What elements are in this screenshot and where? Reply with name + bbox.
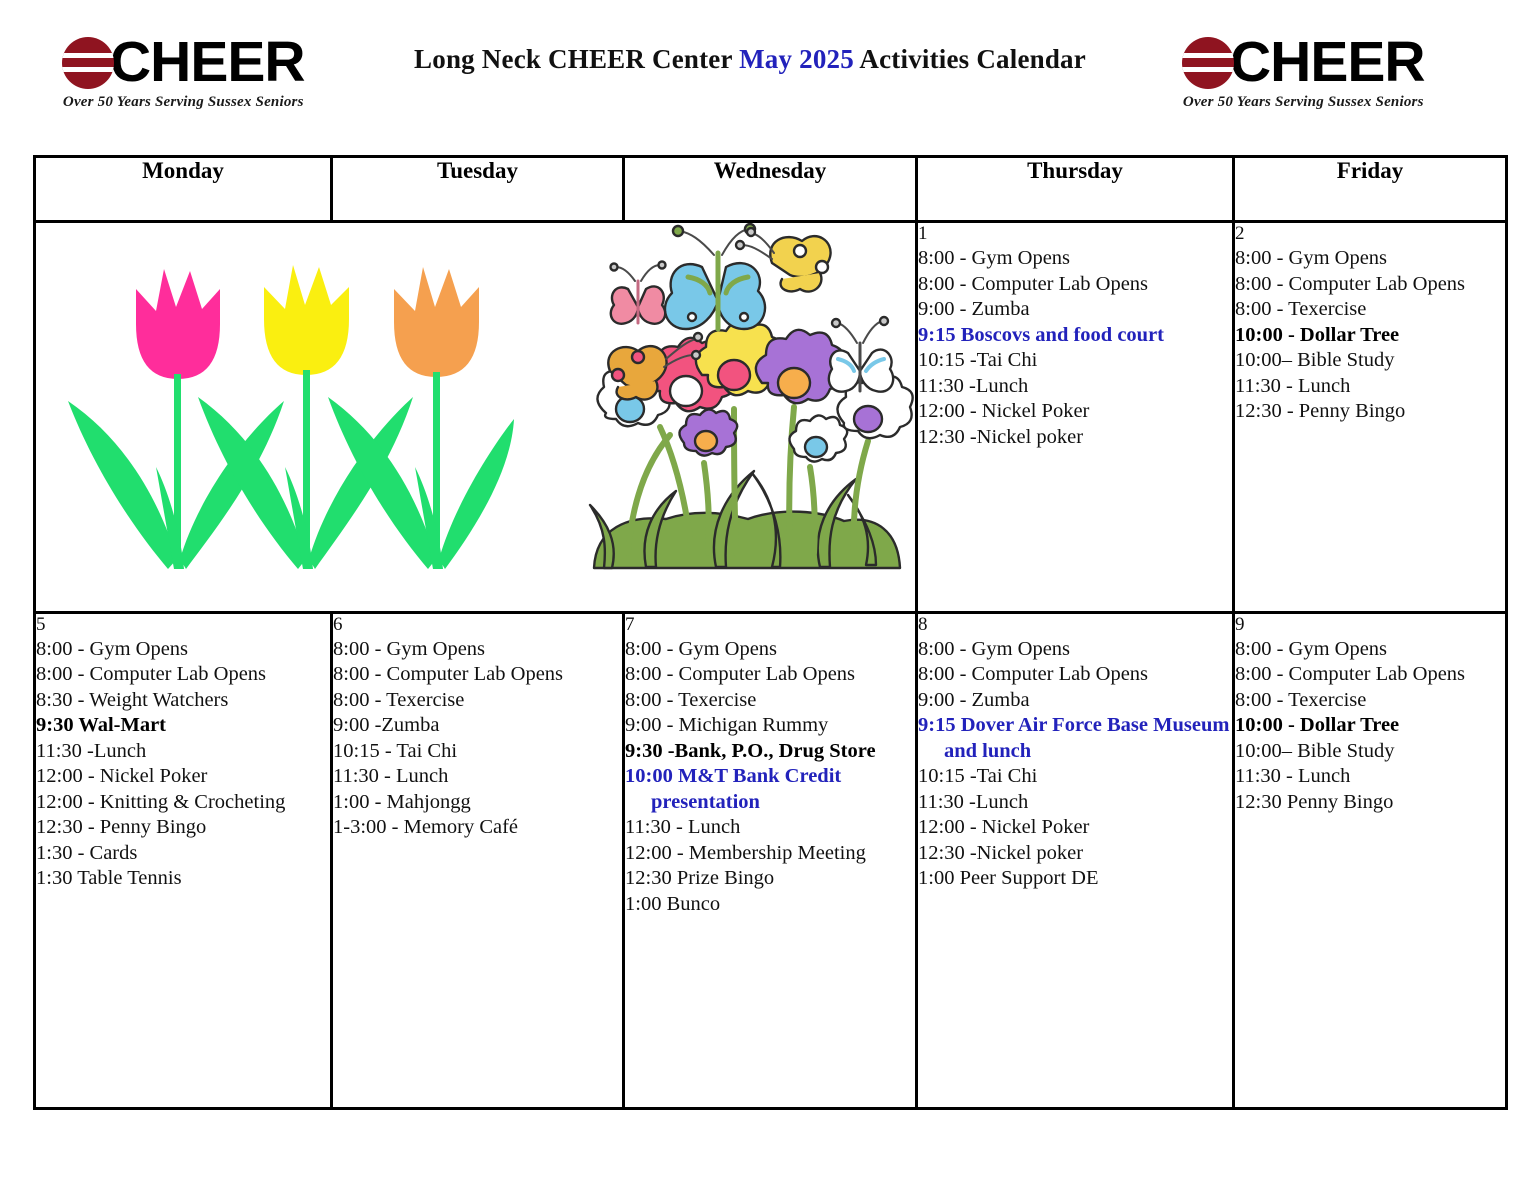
calendar-day-cell[interactable]: 2 8:00 - Gym Opens 8:00 - Computer Lab O… — [1234, 222, 1507, 613]
event-item[interactable]: 12:00 - Nickel Poker — [918, 399, 1232, 425]
event-item[interactable]: 11:30 - Lunch — [333, 764, 622, 790]
butterfly-blue — [665, 224, 765, 329]
activities-calendar-table: Monday Tuesday Wednesday Thursday Friday — [33, 155, 1508, 1110]
day-header-thursday: Thursday — [917, 157, 1234, 222]
cheer-logo-left: CHEER Over 50 Years Serving Sussex Senio… — [62, 34, 305, 111]
day-number: 5 — [36, 614, 330, 636]
event-item[interactable]: 8:00 - Texercise — [333, 688, 622, 714]
event-item[interactable]: 11:30 - Lunch — [1235, 374, 1505, 400]
logo-tagline-right: Over 50 Years Serving Sussex Seniors — [1183, 94, 1424, 111]
tulip-yellow — [198, 265, 413, 569]
event-item[interactable]: 12:30 - Penny Bingo — [36, 815, 330, 841]
tulips-illustration — [64, 229, 514, 589]
flower-purple-small — [679, 409, 737, 455]
event-item[interactable]: 8:00 - Computer Lab Opens — [918, 272, 1232, 298]
calendar-body: 1 8:00 - Gym Opens 8:00 - Computer Lab O… — [35, 222, 1507, 1109]
calendar-day-cell[interactable]: 8 8:00 - Gym Opens 8:00 - Computer Lab O… — [917, 612, 1234, 1108]
event-item[interactable]: 8:00 - Computer Lab Opens — [333, 662, 622, 688]
event-item[interactable]: 8:00 - Computer Lab Opens — [36, 662, 330, 688]
calendar-week-row: 1 8:00 - Gym Opens 8:00 - Computer Lab O… — [35, 222, 1507, 613]
event-item[interactable]: 10:00– Bible Study — [1235, 739, 1505, 765]
event-item[interactable]: 8:00 - Gym Opens — [333, 637, 622, 663]
event-item[interactable]: 9:00 - Zumba — [918, 297, 1232, 323]
event-item[interactable]: 12:30 Prize Bingo — [625, 866, 915, 892]
cheer-logo-right: CHEER Over 50 Years Serving Sussex Senio… — [1182, 34, 1425, 111]
day-number: 6 — [333, 614, 622, 636]
event-item[interactable]: 11:30 - Lunch — [625, 815, 915, 841]
event-item[interactable]: 10:15 -Tai Chi — [918, 764, 1232, 790]
event-item[interactable]: 11:30 -Lunch — [36, 739, 330, 765]
calendar-day-cell[interactable]: 6 8:00 - Gym Opens 8:00 - Computer Lab O… — [332, 612, 624, 1108]
event-item[interactable]: 8:30 - Weight Watchers — [36, 688, 330, 714]
day-header-friday: Friday — [1234, 157, 1507, 222]
butterfly-pink-small — [611, 262, 666, 324]
tulip-pink — [68, 269, 284, 569]
event-item[interactable]: 11:30 -Lunch — [918, 790, 1232, 816]
decorative-art-cell — [35, 222, 917, 613]
event-item-highlight[interactable]: 10:00 M&T Bank Credit presentation — [625, 764, 915, 815]
calendar-day-cell[interactable]: 7 8:00 - Gym Opens 8:00 - Computer Lab O… — [624, 612, 917, 1108]
flower-white-blue-small — [789, 415, 847, 461]
calendar-page: CHEER Over 50 Years Serving Sussex Senio… — [0, 0, 1536, 1187]
event-item[interactable]: 11:30 -Lunch — [918, 374, 1232, 400]
day-number: 1 — [918, 223, 1232, 245]
event-item[interactable]: 12:30 Penny Bingo — [1235, 790, 1505, 816]
event-item[interactable]: 10:15 - Tai Chi — [333, 739, 622, 765]
day-header-row: Monday Tuesday Wednesday Thursday Friday — [35, 157, 1507, 222]
event-item-highlight[interactable]: 9:30 Wal-Mart — [36, 713, 330, 739]
event-item[interactable]: 12:00 - Membership Meeting — [625, 841, 915, 867]
title-month-year: May 2025 — [739, 44, 854, 74]
cheer-circle-logo-icon — [1182, 37, 1234, 89]
logo-wordmark-right: CHEER — [1230, 34, 1425, 91]
event-item[interactable]: 8:00 - Gym Opens — [625, 637, 915, 663]
calendar-week-row: 5 8:00 - Gym Opens 8:00 - Computer Lab O… — [35, 612, 1507, 1108]
butterfly-white-right — [829, 317, 893, 392]
event-item-highlight[interactable]: 9:30 -Bank, P.O., Drug Store — [625, 739, 915, 765]
event-item[interactable]: 1-3:00 - Memory Café — [333, 815, 622, 841]
cheer-circle-logo-icon — [62, 37, 114, 89]
event-item[interactable]: 1:00 - Mahjongg — [333, 790, 622, 816]
event-item[interactable]: 8:00 - Computer Lab Opens — [918, 662, 1232, 688]
event-item[interactable]: 8:00 - Gym Opens — [918, 637, 1232, 663]
event-item[interactable]: 12:30 -Nickel poker — [918, 425, 1232, 451]
logo-wordmark-left: CHEER — [110, 34, 305, 91]
day-header-monday: Monday — [35, 157, 332, 222]
butterflies-flowers-illustration — [576, 223, 916, 583]
event-item[interactable]: 8:00 - Computer Lab Opens — [625, 662, 915, 688]
event-item[interactable]: 12:00 - Nickel Poker — [36, 764, 330, 790]
event-item-highlight[interactable]: 10:00 - Dollar Tree — [1235, 323, 1505, 349]
event-item[interactable]: 12:30 - Penny Bingo — [1235, 399, 1505, 425]
event-item[interactable]: 12:00 - Knitting & Crocheting — [36, 790, 330, 816]
event-item[interactable]: 12:00 - Nickel Poker — [918, 815, 1232, 841]
logo-tagline-left: Over 50 Years Serving Sussex Seniors — [63, 94, 304, 111]
day-header-wednesday: Wednesday — [624, 157, 917, 222]
event-item[interactable]: 8:00 - Computer Lab Opens — [1235, 662, 1505, 688]
calendar-day-cell[interactable]: 9 8:00 - Gym Opens 8:00 - Computer Lab O… — [1234, 612, 1507, 1108]
event-item[interactable]: 8:00 - Texercise — [1235, 688, 1505, 714]
title-suffix: Activities Calendar — [854, 44, 1086, 74]
event-item[interactable]: 1:00 Bunco — [625, 892, 915, 918]
event-item[interactable]: 1:30 - Cards — [36, 841, 330, 867]
day-number: 9 — [1235, 614, 1505, 636]
event-item[interactable]: 8:00 - Computer Lab Opens — [1235, 272, 1505, 298]
page-title: Long Neck CHEER Center May 2025 Activiti… — [380, 44, 1120, 75]
event-item[interactable]: 8:00 - Gym Opens — [1235, 637, 1505, 663]
day-header-tuesday: Tuesday — [332, 157, 624, 222]
calendar-day-cell[interactable]: 5 8:00 - Gym Opens 8:00 - Computer Lab O… — [35, 612, 332, 1108]
day-number: 8 — [918, 614, 1232, 636]
event-item[interactable]: 9:00 -Zumba — [333, 713, 622, 739]
event-item[interactable]: 8:00 - Gym Opens — [918, 246, 1232, 272]
title-prefix: Long Neck CHEER Center — [414, 44, 739, 74]
event-item[interactable]: 11:30 - Lunch — [1235, 764, 1505, 790]
event-item-highlight[interactable]: 9:15 Boscovs and food court — [918, 323, 1232, 349]
event-item[interactable]: 8:00 - Texercise — [625, 688, 915, 714]
page-header: CHEER Over 50 Years Serving Sussex Senio… — [0, 0, 1536, 148]
event-item[interactable]: 10:15 -Tai Chi — [918, 348, 1232, 374]
event-item[interactable]: 1:30 Table Tennis — [36, 866, 330, 892]
event-item-highlight[interactable]: 9:15 Dover Air Force Base Museum and lun… — [918, 713, 1232, 764]
event-item[interactable]: 9:00 - Michigan Rummy — [625, 713, 915, 739]
calendar-day-cell[interactable]: 1 8:00 - Gym Opens 8:00 - Computer Lab O… — [917, 222, 1234, 613]
event-item-highlight[interactable]: 10:00 - Dollar Tree — [1235, 713, 1505, 739]
event-item[interactable]: 8:00 - Gym Opens — [36, 637, 330, 663]
event-item[interactable]: 1:00 Peer Support DE — [918, 866, 1232, 892]
event-item[interactable]: 8:00 - Texercise — [1235, 297, 1505, 323]
event-item[interactable]: 10:00– Bible Study — [1235, 348, 1505, 374]
event-item[interactable]: 9:00 - Zumba — [918, 688, 1232, 714]
event-item[interactable]: 8:00 - Gym Opens — [1235, 246, 1505, 272]
tulip-orange — [328, 267, 514, 569]
day-number: 7 — [625, 614, 915, 636]
day-number: 2 — [1235, 223, 1505, 245]
event-item[interactable]: 12:30 -Nickel poker — [918, 841, 1232, 867]
